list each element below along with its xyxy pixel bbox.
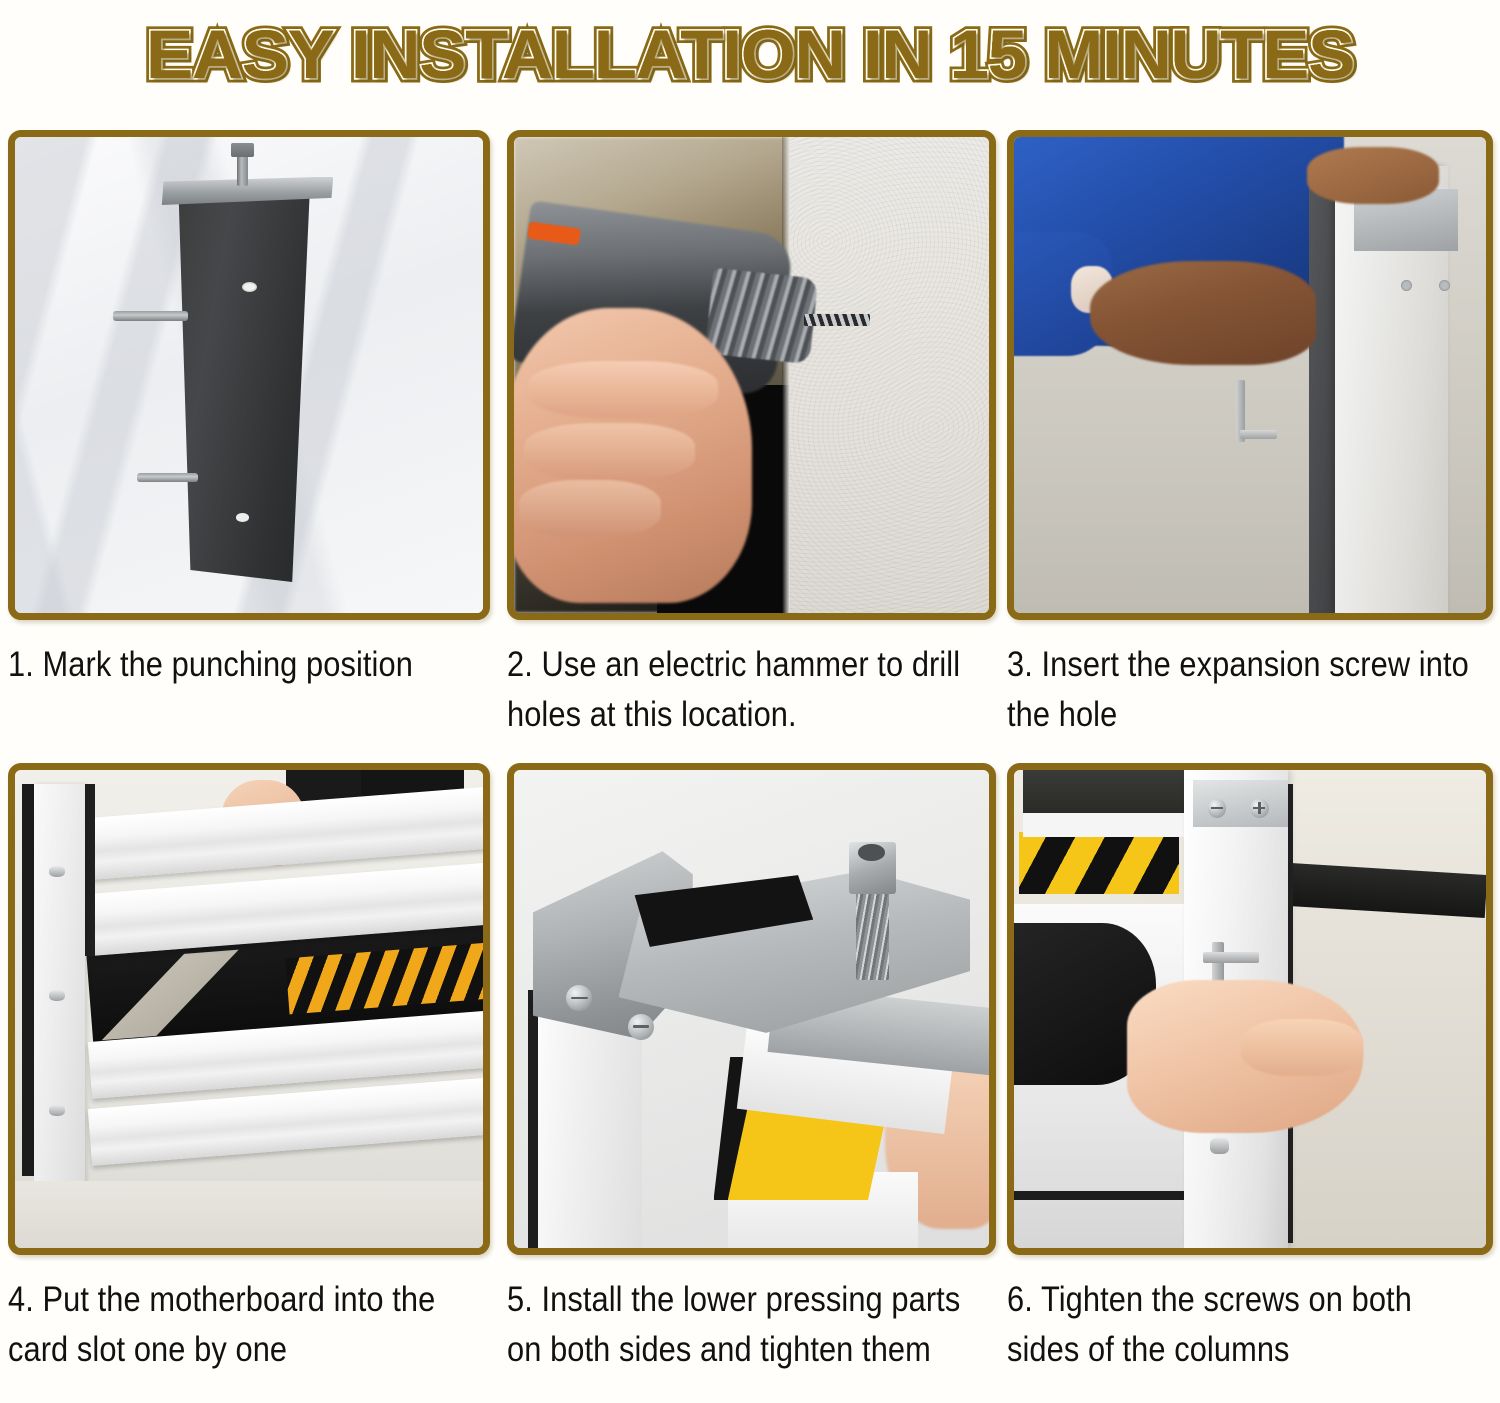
worker-forearm <box>1090 261 1317 366</box>
steps-grid: 1. Mark the punching position <box>0 108 1500 1403</box>
step-2-caption: 2. Use an electric hammer to drill holes… <box>507 640 993 739</box>
white-post-with-card-slot <box>34 784 85 1186</box>
step-4-caption: 4. Put the motherboard into the card slo… <box>8 1275 487 1374</box>
step-6-caption: 6. Tighten the screws on both sides of t… <box>1007 1275 1490 1374</box>
upper-white-board <box>1023 813 1183 837</box>
column-screw-left <box>1208 799 1227 818</box>
step-2-drill-holes-photo <box>514 137 989 613</box>
marking-hole-lower <box>236 513 249 522</box>
step-card-5: 5. Install the lower pressing parts on b… <box>507 763 996 1403</box>
step-card-3: 3. Insert the expansion screw into the h… <box>1007 130 1493 760</box>
header-banner: EASY INSTALLATION IN 15 MINUTES EASY INS… <box>0 0 1500 108</box>
page-title-fill-layer: EASY INSTALLATION IN 15 MINUTES <box>146 20 1354 89</box>
post-dark-edge-left <box>22 784 34 1176</box>
step-4-photo-frame <box>8 763 490 1255</box>
step-5-install-lower-pressing-parts-photo <box>514 770 989 1248</box>
step-card-1: 1. Mark the punching position <box>8 130 490 760</box>
installer-fingers <box>1241 1019 1364 1076</box>
step-card-2: 2. Use an electric hammer to drill holes… <box>507 130 996 760</box>
hazard-stripe-tape <box>1019 832 1179 894</box>
page-title: EASY INSTALLATION IN 15 MINUTES EASY INS… <box>146 20 1354 89</box>
step-2-photo-frame <box>507 130 996 620</box>
lower-bolt <box>1210 1138 1229 1154</box>
hazard-stripe-tape <box>285 943 483 1015</box>
column-screw-right <box>1250 799 1269 818</box>
panel-bottom-seal <box>1014 1191 1193 1201</box>
bolt-hex-socket <box>858 844 884 861</box>
floor-surface <box>15 1181 483 1248</box>
installation-guide-page: EASY INSTALLATION IN 15 MINUTES EASY INS… <box>0 0 1500 1403</box>
step-1-caption: 1. Mark the punching position <box>8 640 487 690</box>
wall-corner-edge <box>782 137 789 613</box>
allen-key-on-floor-arm <box>1240 430 1278 440</box>
step-card-6: 6. Tighten the screws on both sides of t… <box>1007 763 1493 1403</box>
step-6-photo-frame <box>1007 763 1493 1255</box>
step-3-photo-frame <box>1007 130 1493 620</box>
masonry-drill-bit <box>804 314 871 326</box>
background-ramp <box>95 950 245 1041</box>
step-1-photo-frame <box>8 130 490 620</box>
threaded-bolt-shaft <box>856 890 889 981</box>
step-1-mark-punching-position-photo <box>15 137 483 613</box>
post-pin-2 <box>49 990 65 1001</box>
step-5-caption: 5. Install the lower pressing parts on b… <box>507 1275 993 1374</box>
allen-key-arm <box>1203 952 1260 963</box>
textured-white-wall <box>790 137 990 613</box>
dark-column-body <box>174 182 310 582</box>
finger-2 <box>524 423 695 480</box>
post-pin-3 <box>49 1105 65 1116</box>
post-dark-edge-right <box>85 784 95 956</box>
column-dark-edge <box>528 990 538 1248</box>
steps-row-bottom: 4. Put the motherboard into the card slo… <box>0 763 1500 1403</box>
step-6-tighten-screws-photo <box>1014 770 1486 1248</box>
step-5-photo-frame <box>507 763 996 1255</box>
bracket-screw-lower <box>628 1014 654 1040</box>
step-3-caption: 3. Insert the expansion screw into the h… <box>1007 640 1490 739</box>
worker-upper-hand <box>1307 147 1439 204</box>
column-shadow-side <box>1309 175 1337 613</box>
column-top-plate <box>1193 780 1287 828</box>
top-bolt-head <box>231 143 253 157</box>
step-3-insert-expansion-screw-photo <box>1014 137 1486 613</box>
steps-row-top: 1. Mark the punching position <box>0 130 1500 760</box>
step-card-4: 4. Put the motherboard into the card slo… <box>8 763 490 1403</box>
finger-3 <box>519 480 662 537</box>
finger-1 <box>528 361 718 418</box>
post-pin-1 <box>49 866 65 877</box>
protruding-stud-upper <box>113 311 188 321</box>
protruding-stud-lower <box>137 473 198 483</box>
drill-chuck <box>705 267 818 363</box>
step-4-insert-motherboard-photo <box>15 770 483 1248</box>
